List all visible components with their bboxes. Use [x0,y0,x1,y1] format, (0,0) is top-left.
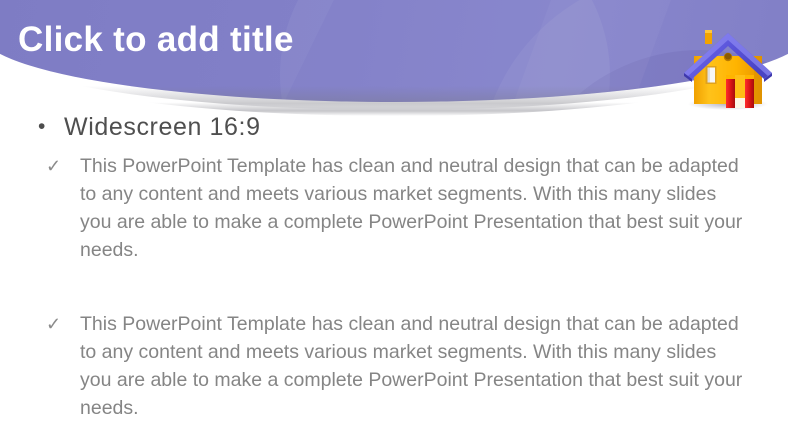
bullet-item-2: ✓ This PowerPoint Template has clean and… [0,310,788,422]
page-title[interactable]: Click to add title [18,20,294,60]
paragraph-text-2[interactable]: This PowerPoint Template has clean and n… [80,310,745,422]
paragraph-text-1[interactable]: This PowerPoint Template has clean and n… [80,152,745,264]
heading-row: • Widescreen 16:9 [0,112,788,142]
house-icon [672,18,780,110]
bullet-item-1: ✓ This PowerPoint Template has clean and… [0,152,788,264]
check-icon: ✓ [44,310,80,338]
check-icon: ✓ [44,152,80,180]
slide-canvas: Click to add title [0,0,788,443]
bullet-dot-icon: • [38,112,64,142]
body-content: • Widescreen 16:9 ✓ This PowerPoint Temp… [0,112,788,422]
heading-text[interactable]: Widescreen 16:9 [64,112,261,142]
